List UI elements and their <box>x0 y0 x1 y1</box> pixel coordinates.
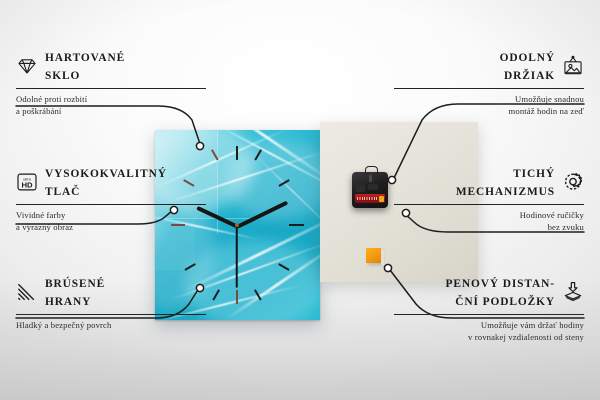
movement-hanger <box>365 166 378 175</box>
feature-description: Hodinové ručičky bez zvuku <box>394 209 584 234</box>
feature-brushed-edges: BRÚSENÉ HRANY Hladký a bezpečný povrch <box>16 274 206 331</box>
feature-desc-line-1: Odolné proti rozbití <box>16 94 87 104</box>
feature-title-line-1: PENOVÝ DISTAN- <box>445 278 555 290</box>
brushed-edges-icon <box>16 281 38 303</box>
clock-second-hand <box>236 226 238 288</box>
feature-divider <box>394 204 584 205</box>
feature-desc-line-2: a výrazný obraz <box>16 222 73 232</box>
feature-title-line-1: HARTOVANÉ <box>45 52 125 64</box>
feature-desc-line-1: Hodinové ručičky <box>520 210 584 220</box>
feature-durable-holder: ODOLNÝ DRŽIAK Umožňuje snadnou montáž ho… <box>394 48 584 118</box>
feature-title: VYSOKOKVALITNÝ TLAČ <box>45 164 167 200</box>
ultra-hd-icon: ultra HD <box>16 171 38 193</box>
feature-title-line-2: HRANY <box>45 296 91 308</box>
feature-divider <box>16 88 206 89</box>
feature-description: Vividné farby a výrazný obraz <box>16 209 206 234</box>
feature-description: Umožňuje vám držať hodiny v rovnakej vzd… <box>394 319 584 344</box>
feature-title-line-2: ČNÍ PODLOŽKY <box>455 296 555 308</box>
feature-title-line-1: VYSOKOKVALITNÝ <box>45 168 167 180</box>
movement-slot-left <box>356 185 365 192</box>
movement-slot-right <box>368 184 378 190</box>
product-foam-pad <box>366 248 381 263</box>
diamond-icon <box>16 55 38 77</box>
feature-desc-line-1: Vividné farby <box>16 210 65 220</box>
product-clock-movement <box>352 172 388 208</box>
hanging-frame-icon <box>562 55 584 77</box>
movement-shaft <box>369 175 372 182</box>
movement-battery <box>355 194 385 203</box>
feature-divider <box>394 88 584 89</box>
feature-foam-distance-pads: PENOVÝ DISTAN- ČNÍ PODLOŽKY Umožňuje vám… <box>394 274 584 344</box>
feature-desc-line-1: Umožňuje vám držať hodiny <box>481 320 584 330</box>
feature-title: PENOVÝ DISTAN- ČNÍ PODLOŽKY <box>445 274 555 310</box>
feature-title-line-2: DRŽIAK <box>504 70 555 82</box>
feature-title: BRÚSENÉ HRANY <box>45 274 105 310</box>
feature-description: Umožňuje snadnou montáž hodin na zeď <box>394 93 584 118</box>
feature-title-line-1: TICHÝ <box>513 168 555 180</box>
infographic-canvas: HARTOVANÉ SKLO Odolné proti rozbití a po… <box>0 0 600 400</box>
layers-press-icon <box>562 281 584 303</box>
feature-desc-line-2: a poškrábání <box>16 106 61 116</box>
feature-desc-line-1: Umožňuje snadnou <box>515 94 584 104</box>
feature-desc-line-2: bez zvuku <box>548 222 584 232</box>
feature-desc-line-2: v rovnakej vzdialenosti od steny <box>468 332 584 342</box>
feature-title: HARTOVANÉ SKLO <box>45 48 125 84</box>
feature-tempered-glass: HARTOVANÉ SKLO Odolné proti rozbití a po… <box>16 48 206 118</box>
feature-title-line-1: BRÚSENÉ <box>45 278 105 290</box>
feature-quiet-mechanism: TICHÝ MECHANIZMUS Hodinové ručičky bez z… <box>394 164 584 234</box>
tick-12 <box>236 146 238 160</box>
feature-description: Hladký a bezpečný povrch <box>16 319 206 331</box>
battery-plus-terminal <box>379 196 384 202</box>
feature-divider <box>16 204 206 205</box>
feature-divider <box>394 314 584 315</box>
tick-3 <box>289 224 304 226</box>
feature-desc-line-1: Hladký a bezpečný povrch <box>16 320 111 330</box>
feature-title: TICHÝ MECHANIZMUS <box>456 164 555 200</box>
feature-title-line-1: ODOLNÝ <box>500 52 555 64</box>
battery-label <box>357 197 377 200</box>
feature-divider <box>16 314 206 315</box>
feature-title-line-2: MECHANIZMUS <box>456 186 555 198</box>
foam-pad-side <box>381 250 384 265</box>
feature-title-line-2: SKLO <box>45 70 80 82</box>
clock-center-cap <box>235 223 239 227</box>
feature-title: ODOLNÝ DRŽIAK <box>500 48 555 84</box>
svg-text:HD: HD <box>21 181 33 190</box>
feature-desc-line-2: montáž hodin na zeď <box>509 106 584 116</box>
feature-title-line-2: TLAČ <box>45 186 80 198</box>
tick-6 <box>236 290 238 304</box>
gear-icon <box>562 171 584 193</box>
feature-high-quality-print: ultra HD VYSOKOKVALITNÝ TLAČ Vividné far… <box>16 164 206 234</box>
feature-description: Odolné proti rozbití a poškrábání <box>16 93 206 118</box>
